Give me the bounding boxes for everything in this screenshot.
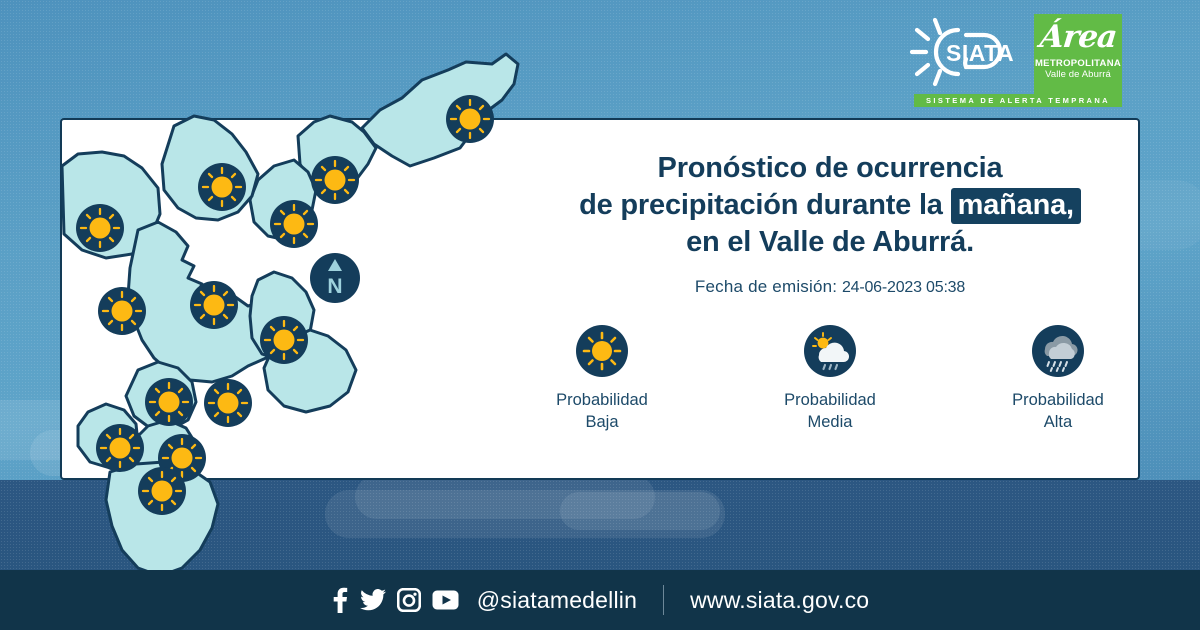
title-line-2-text: de precipitación durante la	[579, 189, 943, 221]
legend-item-alta: Probabilidad Alta	[988, 325, 1128, 434]
legend-item-media: Probabilidad Media	[760, 325, 900, 434]
title-line-1: Pronóstico de ocurrencia	[520, 150, 1140, 187]
legend-label-media: Probabilidad Media	[784, 389, 876, 434]
facebook-icon[interactable]	[331, 587, 349, 613]
issue-date: Fecha de emisión: 24-06-2023 05:38	[520, 277, 1140, 297]
siata-sun-cloud-icon: SIATA	[906, 14, 1024, 90]
instagram-icon[interactable]	[397, 588, 421, 612]
social-icon-group	[331, 587, 459, 613]
title-highlight-period: mañana,	[951, 188, 1081, 224]
legend-label-baja: Probabilidad Baja	[556, 389, 648, 434]
forecast-panel: Pronóstico de ocurrencia de precipitació…	[520, 150, 1140, 433]
legend-label-line1: Probabilidad	[1012, 389, 1104, 411]
background-cloud-icon	[560, 492, 720, 530]
area-logo-line2: Valle de Aburrá	[1045, 69, 1111, 80]
legend-label-line1: Probabilidad	[784, 389, 876, 411]
page-title: Pronóstico de ocurrencia de precipitació…	[520, 150, 1140, 261]
probability-legend: Probabilidad Baja	[520, 325, 1140, 434]
legend-item-baja: Probabilidad Baja	[532, 325, 672, 434]
logo-group: SIATA Área METROPOLITANA Valle de Aburrá	[906, 14, 1122, 98]
sun-cloud-rain-icon	[804, 325, 856, 377]
area-logo-script: Área	[1038, 22, 1117, 53]
cloud-heavy-rain-icon	[1032, 325, 1084, 377]
title-line-3: en el Valle de Aburrá.	[520, 224, 1140, 261]
social-handle[interactable]: @siatamedellin	[477, 587, 637, 614]
footer-bar: @siatamedellin www.siata.gov.co	[0, 570, 1200, 630]
svg-text:SIATA: SIATA	[946, 40, 1014, 66]
legend-label-line2: Media	[784, 411, 876, 433]
area-logo-line1: METROPOLITANA	[1035, 58, 1121, 69]
siata-tagline-bar: SISTEMA DE ALERTA TEMPRANA	[914, 94, 1122, 107]
siata-logo: SIATA	[906, 14, 1024, 90]
legend-label-alta: Probabilidad Alta	[1012, 389, 1104, 434]
legend-label-line1: Probabilidad	[556, 389, 648, 411]
area-metropolitana-logo: Área METROPOLITANA Valle de Aburrá	[1034, 14, 1122, 98]
title-line-2: de precipitación durante la mañana,	[520, 187, 1140, 224]
website-link[interactable]: www.siata.gov.co	[690, 587, 869, 614]
legend-label-line2: Alta	[1012, 411, 1104, 433]
issue-date-value: 24-06-2023 05:38	[842, 279, 965, 296]
legend-label-line2: Baja	[556, 411, 648, 433]
twitter-icon[interactable]	[360, 589, 386, 611]
youtube-icon[interactable]	[432, 590, 459, 610]
footer-divider	[663, 585, 664, 615]
issue-date-label: Fecha de emisión:	[695, 277, 837, 296]
sun-icon	[576, 325, 628, 377]
